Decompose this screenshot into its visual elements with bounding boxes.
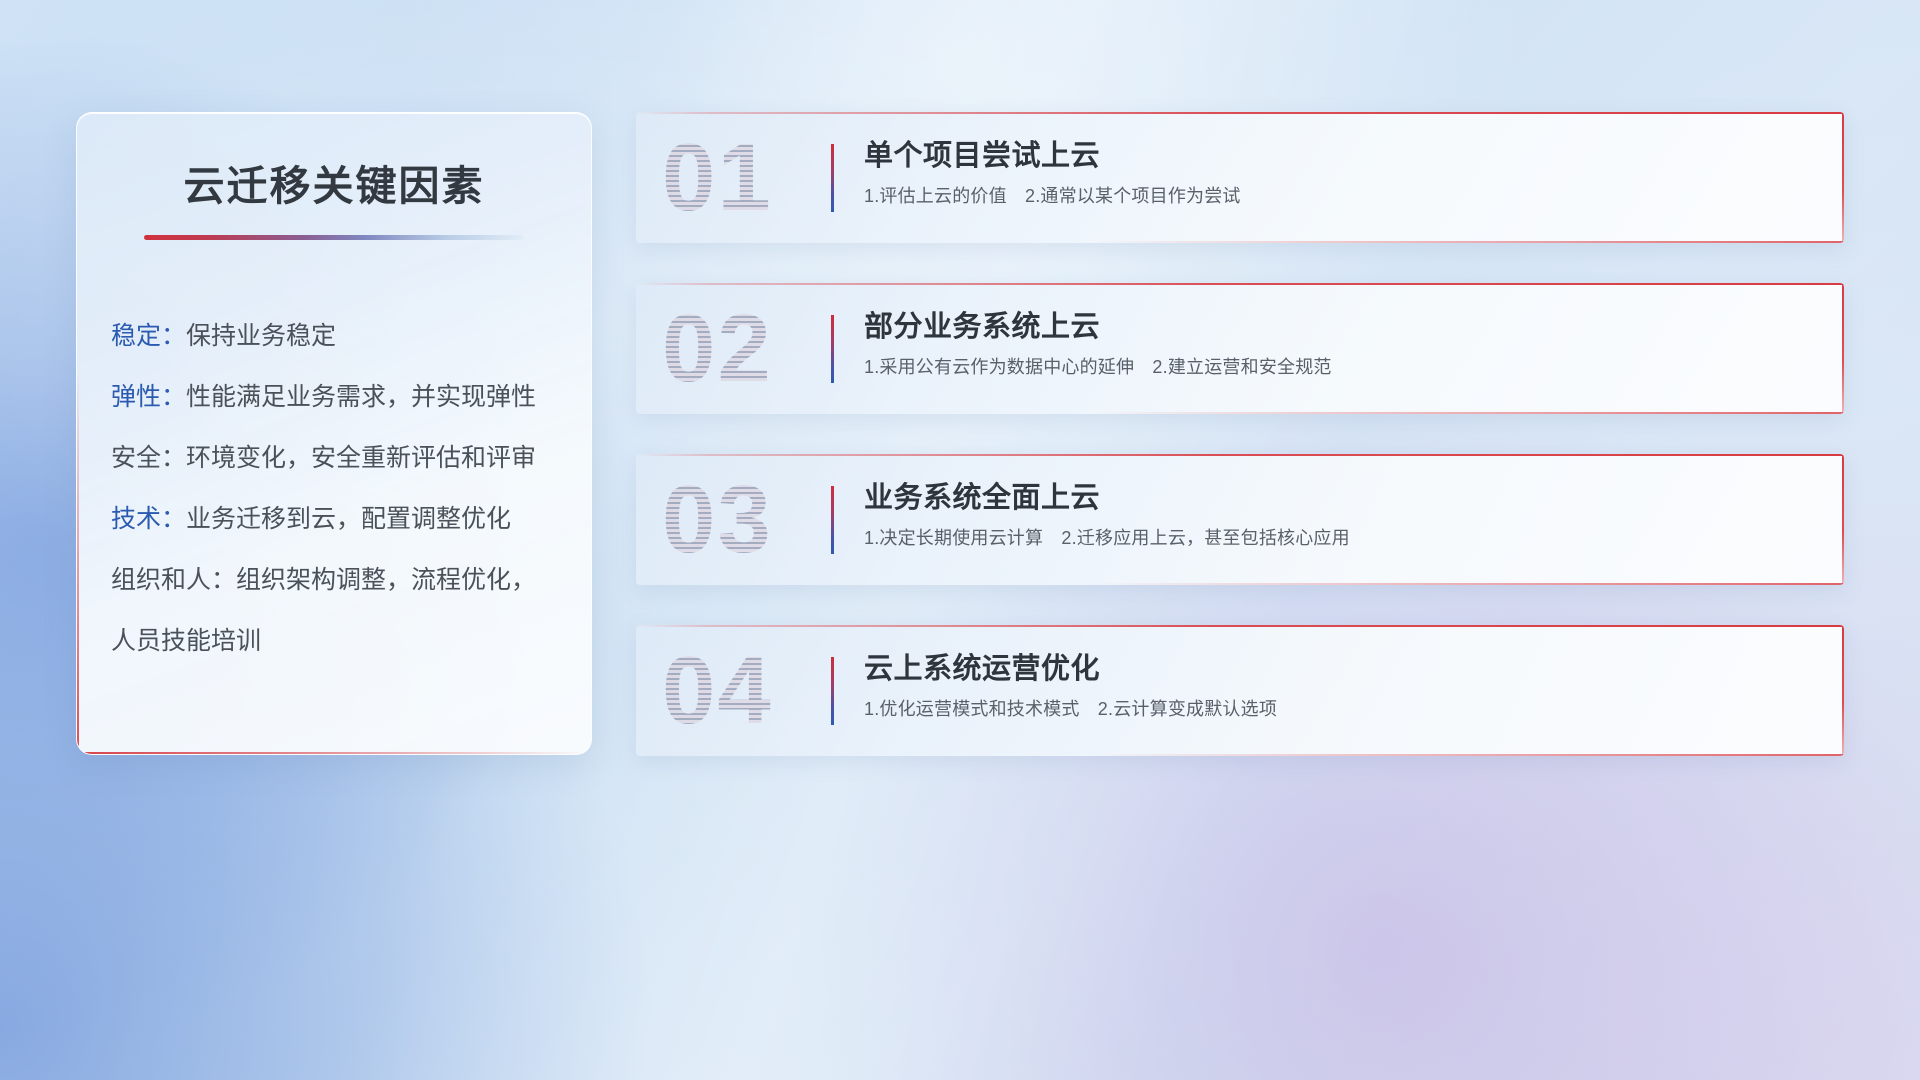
key-factor-item: 组织和人：组织架构调整，流程优化， [111, 550, 557, 611]
page-title: 云迁移关键因素 [77, 166, 591, 207]
card-edge-top [636, 283, 1844, 285]
step-number: 02 [662, 301, 773, 397]
step-divider-rule [831, 657, 834, 725]
title-underline-rule [144, 235, 524, 240]
key-factor-value: 性能满足业务需求，并实现弹性 [186, 383, 536, 411]
step-body: 部分业务系统上云1.采用公有云作为数据中心的延伸 2.建立运营和安全规范 [864, 309, 1824, 380]
step-subtitle: 1.评估上云的价值 2.通常以某个项目作为尝试 [864, 185, 1824, 208]
key-factor-value: 保持业务稳定 [186, 322, 336, 350]
key-factor-list: 稳定：保持业务稳定弹性：性能满足业务需求，并实现弹性安全：环境变化，安全重新评估… [77, 306, 591, 672]
key-factor-label: 弹性： [111, 383, 186, 411]
step-body: 业务系统全面上云1.决定长期使用云计算 2.迁移应用上云，甚至包括核心应用 [864, 480, 1824, 551]
card-edge-bottom [1095, 754, 1844, 756]
slide-stage: 云迁移关键因素 稳定：保持业务稳定弹性：性能满足业务需求，并实现弹性安全：环境变… [0, 0, 1920, 1080]
step-divider-rule [831, 144, 834, 212]
migration-step-card[interactable]: 0404云上系统运营优化1.优化运营模式和技术模式 2.云计算变成默认选项 [636, 625, 1844, 756]
card-edge-top [636, 454, 1844, 456]
key-factor-value: 人员技能培训 [111, 627, 261, 655]
migration-step-card[interactable]: 0101单个项目尝试上云1.评估上云的价值 2.通常以某个项目作为尝试 [636, 112, 1844, 243]
step-subtitle: 1.优化运营模式和技术模式 2.云计算变成默认选项 [864, 698, 1824, 721]
step-subtitle: 1.采用公有云作为数据中心的延伸 2.建立运营和安全规范 [864, 356, 1824, 379]
step-body: 云上系统运营优化1.优化运营模式和技术模式 2.云计算变成默认选项 [864, 651, 1824, 722]
key-factor-label: 组织和人： [111, 566, 236, 594]
step-title: 业务系统全面上云 [864, 480, 1824, 516]
panel-accent-bottom [77, 752, 591, 754]
key-factor-item: 弹性：性能满足业务需求，并实现弹性 [111, 367, 557, 428]
step-number: 01 [662, 130, 773, 226]
key-factor-item: 技术：业务迁移到云，配置调整优化 [111, 489, 557, 550]
migration-steps-list: 0101单个项目尝试上云1.评估上云的价值 2.通常以某个项目作为尝试0202部… [636, 112, 1844, 756]
step-title: 云上系统运营优化 [864, 651, 1824, 687]
key-factor-value: 组织架构调整，流程优化， [236, 566, 536, 594]
card-edge-bottom [1095, 412, 1844, 414]
key-factor-value: 业务迁移到云，配置调整优化 [186, 505, 511, 533]
migration-step-card[interactable]: 0303业务系统全面上云1.决定长期使用云计算 2.迁移应用上云，甚至包括核心应… [636, 454, 1844, 585]
card-edge-right [1842, 625, 1844, 756]
key-factor-label: 安全： [111, 444, 186, 472]
step-number: 04 [662, 643, 773, 739]
migration-step-card[interactable]: 0202部分业务系统上云1.采用公有云作为数据中心的延伸 2.建立运营和安全规范 [636, 283, 1844, 414]
card-edge-top [636, 112, 1844, 114]
key-factor-value: 环境变化，安全重新评估和评审 [186, 444, 536, 472]
step-title: 部分业务系统上云 [864, 309, 1824, 345]
key-factor-item: 稳定：保持业务稳定 [111, 306, 557, 367]
key-factor-item: 人员技能培训 [111, 611, 557, 672]
key-factor-label: 技术： [111, 505, 186, 533]
card-edge-right [1842, 283, 1844, 414]
key-factor-item: 安全：环境变化，安全重新评估和评审 [111, 428, 557, 489]
card-edge-top [636, 625, 1844, 627]
card-edge-right [1842, 454, 1844, 585]
card-edge-bottom [1095, 241, 1844, 243]
step-number: 03 [662, 472, 773, 568]
key-factor-label: 稳定： [111, 322, 186, 350]
card-edge-bottom [1095, 583, 1844, 585]
step-subtitle: 1.决定长期使用云计算 2.迁移应用上云，甚至包括核心应用 [864, 527, 1824, 550]
step-title: 单个项目尝试上云 [864, 138, 1824, 174]
step-body: 单个项目尝试上云1.评估上云的价值 2.通常以某个项目作为尝试 [864, 138, 1824, 209]
key-factors-panel: 云迁移关键因素 稳定：保持业务稳定弹性：性能满足业务需求，并实现弹性安全：环境变… [76, 112, 592, 755]
step-divider-rule [831, 486, 834, 554]
card-edge-right [1842, 112, 1844, 243]
step-divider-rule [831, 315, 834, 383]
